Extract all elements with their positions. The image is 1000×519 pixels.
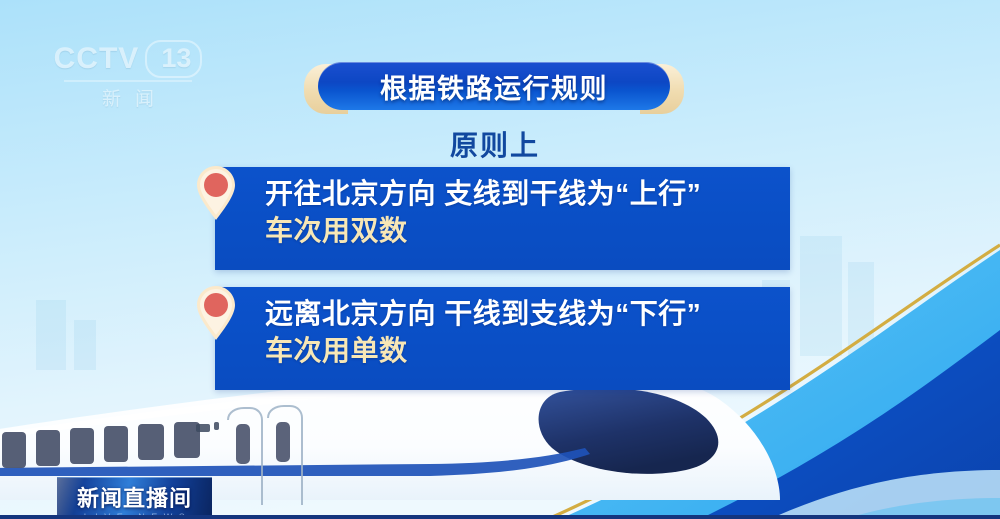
cctv-channel-number: 13 <box>145 40 202 78</box>
cctv13-channel-logo: CCTV 13 新闻 <box>58 38 198 116</box>
map-pin-icon <box>193 284 239 342</box>
title-banner: 根据铁路运行规则 <box>304 62 684 114</box>
content-block-2-accent-line: 车次用单数 <box>265 333 790 370</box>
content-block-1-accent-line: 车次用双数 <box>265 213 790 250</box>
cctv-logo-subtext: 新闻 <box>58 84 198 111</box>
content-block-2: 远离北京方向 干线到支线为“下行” 车次用单数 <box>215 287 790 390</box>
subtitle-text: 原则上 <box>450 130 540 161</box>
live-program-title: 新闻直播间 <box>57 481 212 513</box>
content-block-2-main-line: 远离北京方向 干线到支线为“下行” <box>265 296 790 333</box>
content-block-2-lines: 远离北京方向 干线到支线为“下行” 车次用单数 <box>215 287 790 370</box>
content-block-1-main-line: 开往北京方向 支线到干线为“上行” <box>265 176 790 213</box>
broadcast-graphic-screen: CCTV 13 新闻 根据铁路运行规则 原则上 开往北京方向 支线到干线为“上行… <box>0 0 1000 519</box>
cctv-wordmark: CCTV <box>54 42 140 76</box>
content-block-1: 开往北京方向 支线到干线为“上行” 车次用双数 <box>215 167 790 270</box>
cctv-logo-row: CCTV 13 <box>58 38 198 80</box>
subtitle-row: 原则上 <box>0 124 1000 164</box>
cctv-logo-underline <box>64 80 192 82</box>
title-banner-text: 根据铁路运行规则 <box>380 67 608 106</box>
bottom-strip <box>0 515 1000 519</box>
live-program-banner: 新闻直播间 LIVE NEWS <box>57 477 212 519</box>
map-pin-icon <box>193 164 239 222</box>
content-block-1-lines: 开往北京方向 支线到干线为“上行” 车次用双数 <box>215 167 790 250</box>
title-banner-pill: 根据铁路运行规则 <box>318 62 670 110</box>
